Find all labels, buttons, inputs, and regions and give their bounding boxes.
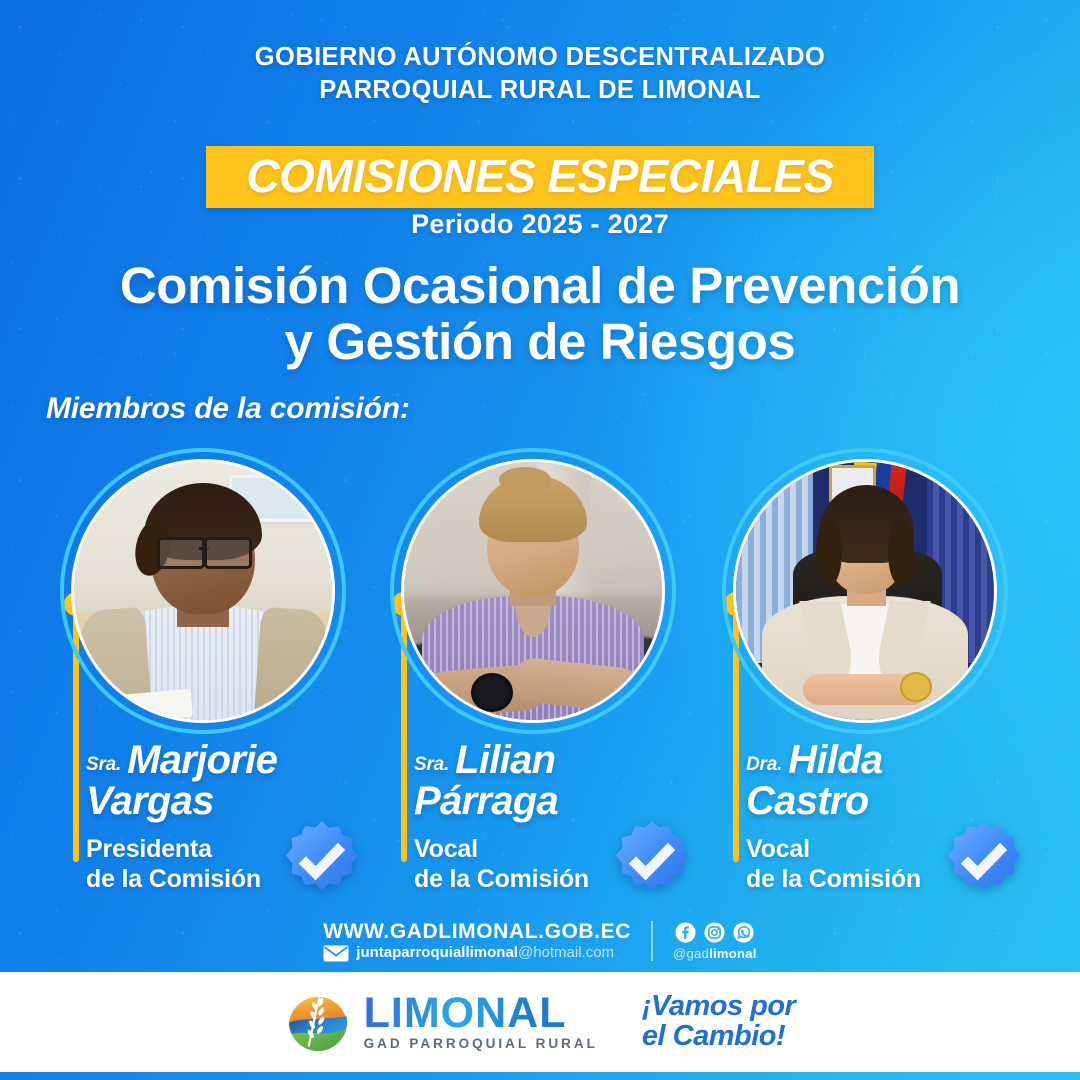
member-role: Vocal de la Comisión <box>746 835 1036 894</box>
member-name-line1: Dra.Hilda <box>746 740 1036 781</box>
member-honorific: Dra. <box>746 754 782 775</box>
banner-wrapper: COMISIONESESPECIALES <box>0 146 1080 208</box>
org-title-line2: PARROQUIAL RURAL DE LIMONAL <box>0 74 1080 107</box>
member-last-name: Párraga <box>414 781 704 822</box>
avatar-photo-hilda-castro <box>736 462 994 720</box>
member-role-line2: de la Comisión <box>86 865 376 895</box>
member-name-line1: Sra.Lilian <box>414 740 704 781</box>
member-last-name: Vargas <box>86 781 376 822</box>
email-row[interactable]: juntaparroquiallimonal@hotmail.com <box>323 945 631 962</box>
avatar-photo-lilian-parraga <box>404 462 662 720</box>
member-role: Vocal de la Comisión <box>414 835 704 894</box>
email-address: juntaparroquiallimonal@hotmail.com <box>356 945 614 962</box>
member-role-line1: Vocal <box>746 835 1036 865</box>
member-name-line1: Sra.Marjorie <box>86 740 376 781</box>
member-role-line2: de la Comisión <box>414 865 704 895</box>
page-title-line1: Comisión Ocasional de Prevención <box>0 258 1080 314</box>
brand-name: LIMONAL <box>364 993 598 1034</box>
member-role-line1: Vocal <box>414 835 704 865</box>
slogan: ¡Vamos por el Cambio! <box>642 992 795 1051</box>
contact-strip: WWW.GADLIMONAL.GOB.EC juntaparroquiallim… <box>0 915 1080 967</box>
comisiones-especiales-banner: COMISIONESESPECIALES <box>206 146 873 208</box>
whatsapp-icon[interactable] <box>733 922 754 943</box>
brand-logo: LIMONAL GAD PARROQUIAL RURAL <box>285 989 598 1055</box>
handle-prefix: @gad <box>673 946 709 961</box>
contact-left: WWW.GADLIMONAL.GOB.EC juntaparroquiallim… <box>323 920 631 962</box>
member-name-block: Sra.Marjorie Vargas Presidenta de la Com… <box>86 740 376 894</box>
website-url[interactable]: WWW.GADLIMONAL.GOB.EC <box>323 920 631 943</box>
social-handle: @gadlimonal <box>673 946 757 961</box>
member-first-name: Marjorie <box>127 738 277 782</box>
member-last-name: Castro <box>746 781 1036 822</box>
avatar <box>722 448 1008 734</box>
banner-word-comisiones: COMISIONES <box>246 153 535 199</box>
brand-text: LIMONAL GAD PARROQUIAL RURAL <box>364 993 598 1051</box>
brand-subtitle: GAD PARROQUIAL RURAL <box>364 1036 598 1051</box>
member-role: Presidenta de la Comisión <box>86 835 376 894</box>
social-block: @gadlimonal <box>673 922 757 961</box>
member-first-name: Hilda <box>788 738 882 782</box>
banner-word-especiales: ESPECIALES <box>547 153 833 199</box>
member-first-name: Lilian <box>455 738 555 782</box>
org-title-line1: GOBIERNO AUTÓNOMO DESCENTRALIZADO <box>0 41 1080 74</box>
limonal-sun-wheat-logo <box>285 989 351 1055</box>
facebook-icon[interactable] <box>675 922 696 943</box>
social-icons <box>673 922 757 943</box>
slogan-line2: el Cambio! <box>642 1022 795 1052</box>
avatar-photo-marjorie-vargas <box>74 462 332 720</box>
instagram-icon[interactable] <box>704 922 725 943</box>
member-role-line2: de la Comisión <box>746 865 1036 895</box>
member-honorific: Sra. <box>86 754 121 775</box>
member-name-block: Sra.Lilian Párraga Vocal de la Comisión <box>414 740 704 894</box>
period-label: Periodo 2025 - 2027 <box>0 209 1080 240</box>
organization-title: GOBIERNO AUTÓNOMO DESCENTRALIZADO PARROQ… <box>0 41 1080 107</box>
page-title: Comisión Ocasional de Prevención y Gesti… <box>0 258 1080 370</box>
list-item: Dra.Hilda Castro Vocal de la Comisión <box>700 440 1030 910</box>
handle-bold: limonal <box>709 946 757 961</box>
members-list: Sra.Marjorie Vargas Presidenta de la Com… <box>0 440 1080 910</box>
members-section-label: Miembros de la comisión: <box>46 392 410 426</box>
avatar <box>60 448 346 734</box>
email-domain: @hotmail.com <box>518 944 614 961</box>
divider <box>651 921 653 961</box>
member-honorific: Sra. <box>414 754 449 775</box>
page-title-line2: y Gestión de Riesgos <box>0 314 1080 370</box>
member-name-block: Dra.Hilda Castro Vocal de la Comisión <box>746 740 1036 894</box>
avatar <box>390 448 676 734</box>
slogan-line1: ¡Vamos por <box>642 992 795 1022</box>
poster-canvas: GOBIERNO AUTÓNOMO DESCENTRALIZADO PARROQ… <box>0 0 1080 1080</box>
list-item: Sra.Marjorie Vargas Presidenta de la Com… <box>38 440 368 910</box>
email-user: juntaparroquiallimonal <box>356 944 518 961</box>
member-role-line1: Presidenta <box>86 835 376 865</box>
envelope-icon <box>323 945 349 962</box>
list-item: Sra.Lilian Párraga Vocal de la Comisión <box>368 440 698 910</box>
footer-bar: LIMONAL GAD PARROQUIAL RURAL ¡Vamos por … <box>0 972 1080 1072</box>
